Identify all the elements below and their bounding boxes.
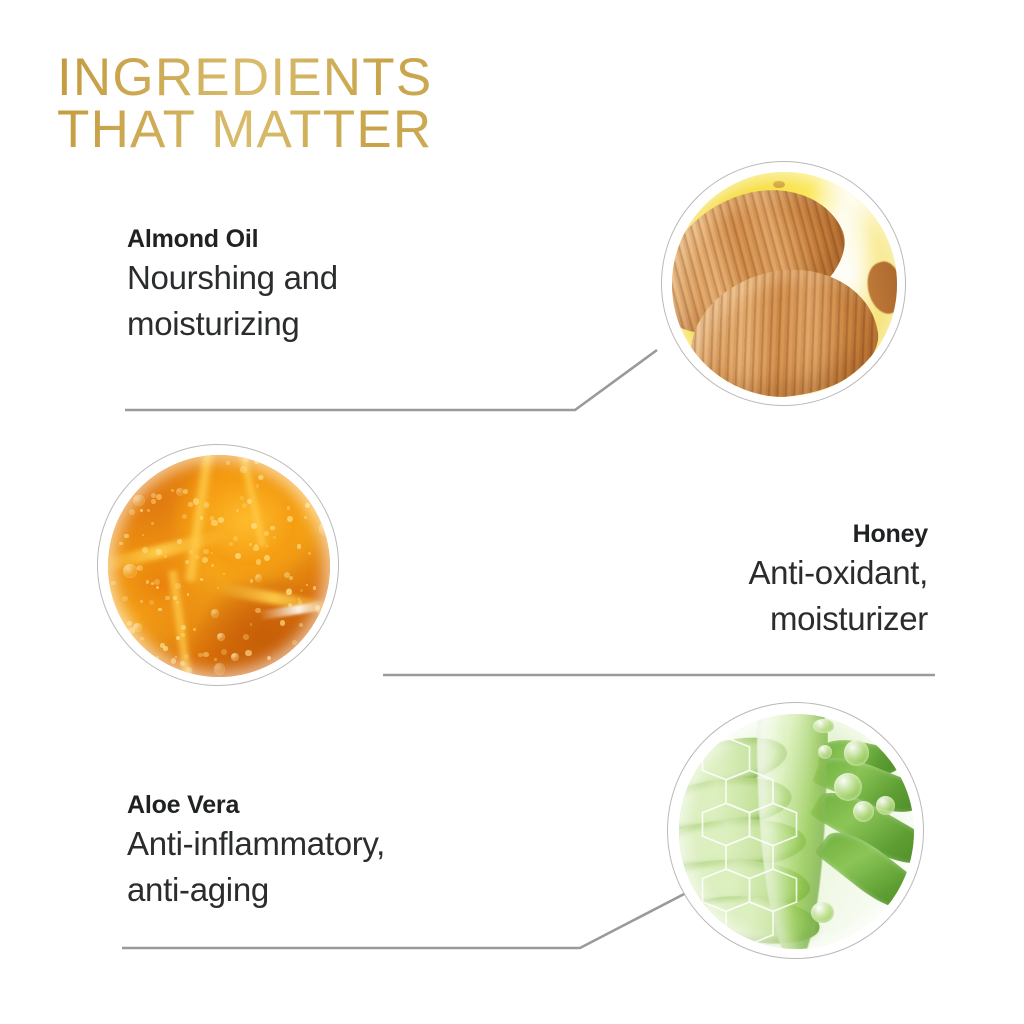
honey-bubble [247,499,252,504]
honey-bubble [193,498,199,504]
honey-bubble [231,653,239,661]
honey-bubble [176,601,179,604]
honey-bubble [319,521,330,537]
honey-bubble [151,522,154,525]
honey-bubble [264,555,270,561]
honey-bubble [305,473,310,478]
honey-bubble [211,552,213,554]
honey-bubble [267,656,271,660]
honey-bubble [292,640,297,645]
aloe-vera-photo-inner [679,714,914,949]
almond-oil-photo [661,161,906,406]
page-title: INGREDIENTS THAT MATTER [57,52,577,156]
honey-bubble [233,536,238,541]
honey-bubble [308,552,312,556]
honey-bubble [156,656,159,659]
ingredient-text-aloe-vera: Aloe Vera Anti-inflammatory, anti-aging [127,789,557,913]
honey-bubble [306,584,308,586]
honey-bubble [310,486,314,490]
honey-bubble [136,473,142,479]
honey-bubble [251,523,257,529]
honey-bubble [223,573,226,576]
honey-bubble [151,499,155,503]
honey-bubble [270,526,274,530]
honey-bubble [119,542,122,545]
honey-bubble [204,502,209,507]
honey-bubble [171,658,176,663]
honey-bubble [123,564,137,578]
honey-bubble [317,611,320,614]
honey-bubble [189,550,193,554]
honey-bubble [305,503,311,509]
honey-bubble [264,531,269,536]
honey-bubble [149,600,154,605]
honey-bubble [217,587,219,589]
honey-bubble [203,652,209,658]
ingredient-title-honey: Honey [498,518,928,550]
honey-bubble [142,534,144,536]
honey-bubble [214,663,225,674]
ingredient-text-almond-oil: Almond Oil Nourshing and moisturizing [127,223,507,347]
honey-bubble [180,661,185,666]
ingredient-title-aloe-vera: Aloe Vera [127,789,557,821]
honey-bubble [242,503,247,508]
honey-bubble [129,509,135,515]
honey-bubble [156,586,160,590]
honey-bubble [255,574,263,582]
connector-almond [125,350,657,410]
aloe-vera-artwork [679,714,914,949]
honey-artwork [108,455,330,677]
almond-oil-artwork [672,172,897,397]
honey-bubble [254,544,258,548]
honey-bubble [250,579,254,583]
honey-bubble [236,509,239,512]
honey-bubble [317,659,324,666]
honey-bubble [287,506,290,509]
honey-bubble [317,502,319,504]
honey-bubble [158,608,162,612]
honey-bubble [124,534,129,539]
honey-bubble [256,559,262,565]
honey-bubble [185,560,189,564]
honey-photo [97,444,339,686]
ingredient-title-almond-oil: Almond Oil [127,223,507,255]
honey-bubble [181,625,186,630]
honey-bubble [299,623,303,627]
honey-bubble [127,621,132,626]
honey-photo-inner [108,455,330,677]
honey-bubble [121,487,127,493]
honey-bubble [221,649,227,655]
honey-bubble [273,536,276,539]
honey-bubble [226,461,230,465]
honey-bubble [319,481,324,486]
honey-bubble [186,667,192,673]
honey-bubbles [108,455,330,677]
honey-bubble [195,555,199,559]
honey-bubble [254,458,260,464]
honey-bubble [229,542,234,547]
honey-bubble [164,462,167,465]
honey-bubble [193,628,196,631]
honey-bubble [171,489,174,492]
honey-bubble [176,488,184,496]
honey-bubble [266,545,268,547]
honey-bubble [142,547,148,553]
honey-bubble [256,484,260,488]
honey-bubble [200,516,204,520]
honey-bubble [304,516,307,519]
honey-bubble [259,475,264,480]
honey-bubble [294,662,300,668]
honey-bubble [137,565,143,571]
honey-bubble [245,650,252,657]
honey-bubble [300,589,303,592]
honey-bubble [202,557,208,563]
honey-bubble [175,583,181,589]
honey-bubble [176,636,180,640]
honey-bubble [200,578,203,581]
honey-bubble [146,580,150,584]
honey-bubble [140,509,142,511]
honey-bubble [243,634,249,640]
honey-bubble [249,543,252,546]
honey-bubble [211,609,220,618]
almond-speck-icon [773,181,784,188]
honey-bubble [154,579,160,585]
honey-bubble [211,564,213,566]
honey-bubble [198,653,203,658]
honey-bubble [129,627,136,634]
honey-bubble [313,586,317,590]
honey-bubble [218,517,224,523]
honey-bubble [286,589,292,595]
honey-bubble [111,581,116,586]
honey-bubble [287,516,293,522]
honey-bubble [240,466,246,472]
honey-bubble [280,620,285,625]
honey-bubble [175,656,177,658]
honey-bubble [153,458,156,461]
honey-bubble [120,467,131,478]
honey-bubble [140,637,143,640]
honey-bubble [177,539,182,544]
honey-bubble [122,596,127,601]
honey-bubble [173,596,177,600]
aloe-vera-photo [667,702,924,959]
honey-bubble [184,654,189,659]
ingredient-description-almond-oil: Nourshing and moisturizing [127,255,507,347]
honey-bubble [308,634,311,637]
honey-bubble [147,509,150,512]
honey-bubble [244,457,249,462]
honey-bubble [140,600,143,603]
almond-oil-photo-inner [672,172,897,397]
honey-bubble [164,555,167,558]
honey-bubble [293,651,296,654]
ingredient-description-honey: Anti-oxidant, moisturizer [498,550,928,642]
honey-bubble [165,596,170,601]
honey-bubble [240,496,244,500]
honey-bubble [130,474,133,477]
infographic-canvas: INGREDIENTS THAT MATTER Almond Oil Nours… [0,0,1024,1024]
honey-bubble [181,633,185,637]
honey-bubble [297,544,302,549]
honey-bubble [284,572,290,578]
honey-bubble [214,658,217,661]
ingredient-description-aloe-vera: Anti-inflammatory, anti-aging [127,821,557,913]
honey-bubble [217,633,225,641]
honey-bubble [203,549,209,555]
honey-bubble [133,495,144,506]
honey-bubble [187,593,190,596]
ingredient-text-honey: Honey Anti-oxidant, moisturizer [498,518,928,642]
honey-bubble [211,520,217,526]
honey-bubble [235,553,241,559]
honey-bubble [321,628,325,632]
honey-bubble [156,494,162,500]
molecule-hexagon-overlay [679,714,914,949]
honey-bubble [163,646,168,651]
honey-bubble [182,514,187,519]
honey-bubble [250,623,252,625]
